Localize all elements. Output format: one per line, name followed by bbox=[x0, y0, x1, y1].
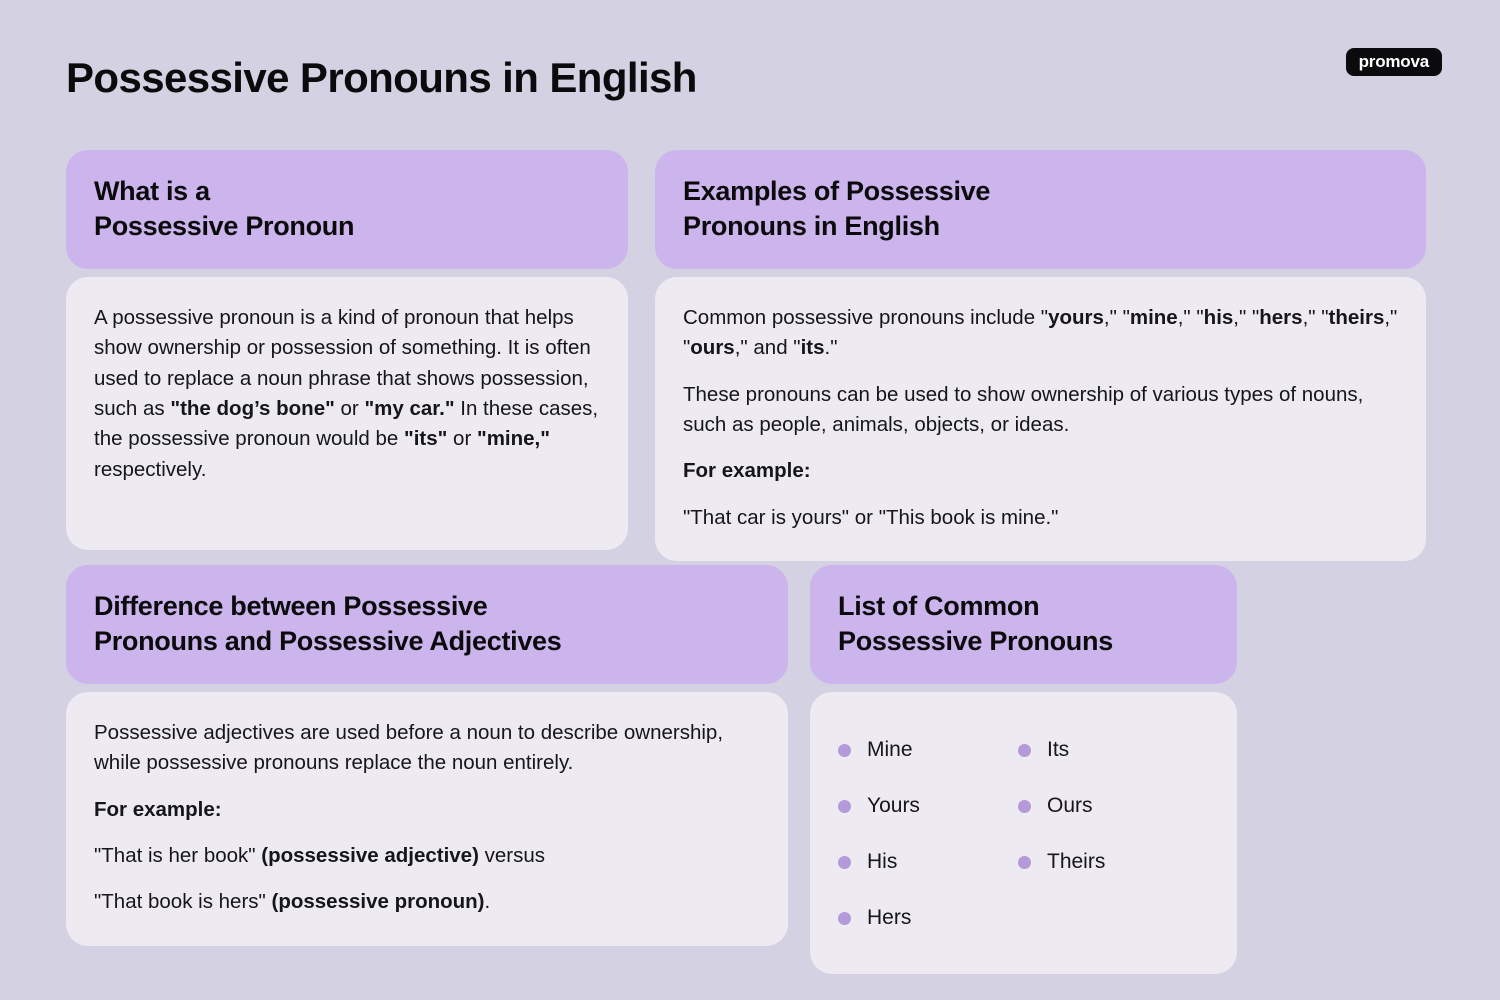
bullet-dot-icon bbox=[1018, 800, 1031, 813]
emphasis-text: his bbox=[1204, 306, 1234, 329]
list-item-label: Ours bbox=[1047, 794, 1093, 818]
difference-example-1: "That is her book" (possessive adjective… bbox=[94, 841, 760, 871]
plain-text: ." bbox=[825, 336, 838, 359]
list-item: Theirs bbox=[1018, 834, 1158, 890]
pronoun-bullet-columns: MineYoursHisHersItsOursTheirs bbox=[838, 718, 1209, 946]
emphasis-text: (possessive adjective) bbox=[261, 844, 479, 867]
list-item: Its bbox=[1018, 722, 1158, 778]
card-header-difference: Difference between Possessive Pronouns a… bbox=[66, 565, 788, 684]
card-header-what-is: What is a Possessive Pronoun bbox=[66, 150, 628, 269]
what-is-paragraph: A possessive pronoun is a kind of pronou… bbox=[94, 303, 600, 485]
bullet-dot-icon bbox=[838, 744, 851, 757]
plain-text: respectively. bbox=[94, 458, 206, 481]
emphasis-text: "my car." bbox=[364, 397, 454, 420]
plain-text: ," " bbox=[1233, 306, 1259, 329]
plain-text: or bbox=[335, 397, 365, 420]
plain-text: "That book is hers" bbox=[94, 890, 272, 913]
list-item-label: Theirs bbox=[1047, 850, 1105, 874]
plain-text: ," " bbox=[1303, 306, 1329, 329]
difference-for-example-label: For example: bbox=[94, 795, 760, 825]
list-item-label: Its bbox=[1047, 738, 1069, 762]
emphasis-text: "its" bbox=[404, 427, 447, 450]
plain-text: or bbox=[447, 427, 477, 450]
emphasis-text: yours bbox=[1048, 306, 1104, 329]
plain-text: "That is her book" bbox=[94, 844, 261, 867]
card-body-what-is: A possessive pronoun is a kind of pronou… bbox=[66, 277, 628, 550]
promova-logo: promova bbox=[1346, 48, 1442, 76]
card-examples-of-possessive-pronouns: Examples of Possessive Pronouns in Engli… bbox=[655, 150, 1426, 550]
card-title-what-is: What is a Possessive Pronoun bbox=[94, 174, 600, 243]
examples-example-text: "That car is yours" or "This book is min… bbox=[683, 503, 1398, 533]
bullet-dot-icon bbox=[1018, 744, 1031, 757]
list-item: Hers bbox=[838, 890, 978, 946]
list-item-label: His bbox=[867, 850, 897, 874]
list-item-label: Yours bbox=[867, 794, 920, 818]
bullet-dot-icon bbox=[838, 800, 851, 813]
list-item: Ours bbox=[1018, 778, 1158, 834]
emphasis-text: theirs bbox=[1329, 306, 1385, 329]
plain-text: versus bbox=[479, 844, 545, 867]
card-what-is-a-possessive-pronoun: What is a Possessive Pronoun A possessiv… bbox=[66, 150, 628, 550]
emphasis-text: "the dog’s bone" bbox=[170, 397, 334, 420]
emphasis-text: ours bbox=[690, 336, 734, 359]
difference-example-2: "That book is hers" (possessive pronoun)… bbox=[94, 887, 760, 917]
emphasis-text: (possessive pronoun) bbox=[272, 890, 485, 913]
plain-text: ," " bbox=[1104, 306, 1130, 329]
list-item-label: Hers bbox=[867, 906, 911, 930]
card-title-examples: Examples of Possessive Pronouns in Engli… bbox=[683, 174, 1398, 243]
card-title-difference: Difference between Possessive Pronouns a… bbox=[94, 589, 760, 658]
bullet-dot-icon bbox=[838, 912, 851, 925]
emphasis-text: its bbox=[801, 336, 825, 359]
page-title: Possessive Pronouns in English bbox=[66, 54, 697, 102]
card-title-list: List of Common Possessive Pronouns bbox=[838, 589, 1209, 658]
pronoun-column-2: ItsOursTheirs bbox=[1018, 722, 1158, 946]
card-body-difference: Possessive adjectives are used before a … bbox=[66, 692, 788, 946]
page-header: Possessive Pronouns in English promova bbox=[0, 0, 1500, 140]
bullet-dot-icon bbox=[1018, 856, 1031, 869]
difference-paragraph-1: Possessive adjectives are used before a … bbox=[94, 718, 760, 779]
list-item: Mine bbox=[838, 722, 978, 778]
examples-paragraph-1: Common possessive pronouns include "your… bbox=[683, 303, 1398, 364]
list-item-label: Mine bbox=[867, 738, 913, 762]
card-list-of-common-possessive-pronouns: List of Common Possessive Pronouns MineY… bbox=[810, 565, 1237, 945]
emphasis-text: hers bbox=[1259, 306, 1302, 329]
cards-board: What is a Possessive Pronoun A possessiv… bbox=[0, 140, 1500, 1000]
examples-paragraph-2: These pronouns can be used to show owner… bbox=[683, 380, 1398, 441]
emphasis-text: mine bbox=[1130, 306, 1178, 329]
plain-text: Common possessive pronouns include " bbox=[683, 306, 1048, 329]
card-header-examples: Examples of Possessive Pronouns in Engli… bbox=[655, 150, 1426, 269]
examples-for-example-label: For example: bbox=[683, 456, 1398, 486]
card-header-list: List of Common Possessive Pronouns bbox=[810, 565, 1237, 684]
card-body-examples: Common possessive pronouns include "your… bbox=[655, 277, 1426, 561]
list-item: His bbox=[838, 834, 978, 890]
plain-text: . bbox=[485, 890, 491, 913]
emphasis-text: "mine," bbox=[477, 427, 550, 450]
pronoun-column-1: MineYoursHisHers bbox=[838, 722, 978, 946]
card-difference-pronouns-vs-adjectives: Difference between Possessive Pronouns a… bbox=[66, 565, 788, 945]
card-body-list: MineYoursHisHersItsOursTheirs bbox=[810, 692, 1237, 974]
plain-text: ," and " bbox=[735, 336, 801, 359]
plain-text: ," " bbox=[1178, 306, 1204, 329]
list-item: Yours bbox=[838, 778, 978, 834]
bullet-dot-icon bbox=[838, 856, 851, 869]
